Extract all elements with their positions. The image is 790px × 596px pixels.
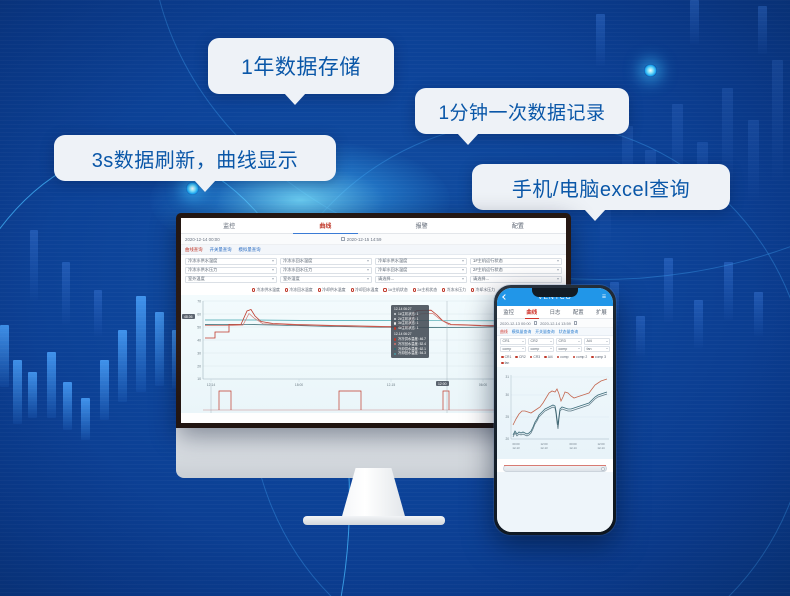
legend-item[interactable]: comp 3 [591,355,606,359]
phone-body-filler [497,472,613,532]
monitor-stand-base [303,516,445,525]
svg-text:12-14: 12-14 [597,446,605,450]
callout-tail [194,180,216,192]
legend-label: CR1 [505,355,512,359]
legend-label: 冷冻回水温度 [289,287,312,293]
legend-item[interactable]: comp [557,355,569,359]
selector-value: comp [531,347,540,351]
bg-bar [694,300,703,348]
bg-bar [13,360,22,424]
bg-bar [63,382,72,430]
chart-y-marker: 48.06 [182,314,195,319]
selector-value: CR2 [531,339,538,343]
legend-label: 冷却回水温度 [355,287,378,293]
date-end-field[interactable]: 2020-12-15 14:59 [341,237,382,242]
chevron-down-icon [606,341,608,342]
legend-marker-icon [557,356,560,359]
tooltip-dot-icon [394,353,396,355]
legend-item[interactable]: CR1 [501,355,511,359]
date-start-field[interactable]: 2020-12-14 00:00 [185,237,220,242]
calendar-icon [534,321,537,324]
selector-value: 请选择... [378,276,394,282]
chevron-down-icon [557,269,559,271]
tab-label: 日志 [550,308,561,316]
callout-three-second-refresh: 3s数据刷新，曲线显示 [54,135,336,181]
chevron-down-icon [272,269,274,271]
selector-value: 请选择... [473,276,489,282]
slider-knob[interactable] [601,467,605,471]
phone-subtab-bar: 曲线 模拟量查询 开关量查询 状态量查询 [497,328,613,336]
selector-value: fan [587,347,592,351]
phone-selector[interactable]: CR3 [556,338,582,345]
legend-marker-icon [351,288,354,291]
monitor-selector[interactable]: 1#主机运行状态 [470,258,562,266]
monitor-tab-alarm[interactable]: 报警 [374,218,470,233]
legend-item[interactable]: 冷却回水温度 [351,287,379,293]
monitor-subtab-analog-query[interactable]: 模拟量查询 [239,247,261,253]
monitor-selector[interactable]: 冷冻水回水温度 [280,258,372,266]
svg-text:70: 70 [197,300,201,304]
mobile-phone: VENTCO ≡ 监控 曲线 日志 配置 扩展 2020-12-13 00:00… [494,285,616,535]
selector-value: 室外湿度 [283,276,300,282]
chevron-down-icon [462,260,464,262]
monitor-selector[interactable]: 冷却水回水温度 [375,267,467,275]
tooltip-label: 冷却回水温度: 54.3 [398,351,426,356]
selector-value: 冷冻水回水压力 [283,267,312,273]
tooltip-dot-icon [394,327,396,329]
phone-selector[interactable]: CR1 [500,338,526,345]
phone-subtab-curve[interactable]: 曲线 [500,329,508,335]
phone-selector[interactable]: fan [584,346,610,353]
phone-selector[interactable]: Ai4 [584,338,610,345]
phone-tab-config[interactable]: 配置 [567,306,590,318]
legend-marker-icon [591,356,594,359]
legend-marker-icon [530,356,533,359]
callout-one-minute-record: 1分钟一次数据记录 [415,88,629,134]
bg-bar [0,325,9,387]
legend-item[interactable]: 1#主机状态 [383,287,407,293]
legend-label: 冷却供水温度 [322,287,345,293]
legend-marker-icon [544,356,547,359]
legend-marker-icon [252,288,255,291]
legend-marker-icon [471,288,474,291]
chevron-down-icon [550,348,552,349]
tooltip-row: 4#主机状态: 1 [394,326,426,331]
legend-item[interactable]: comp 2 [573,355,588,359]
legend-marker-icon [501,362,504,365]
chevron-left-icon[interactable] [502,294,508,300]
phone-date-start[interactable]: 2020-12-13 00:00 [500,321,531,326]
monitor-tab-config[interactable]: 配置 [470,218,566,233]
chart-tooltip: 12-14 06:27 1#主机状态: 1 2#主机状态: 1 3#主机状态: … [391,305,429,358]
legend-marker-icon [515,356,518,359]
phone-selector[interactable]: CR2 [528,338,554,345]
tab-label: 扩展 [596,308,607,316]
selector-value: 2#主机运行状态 [473,267,503,273]
monitor-selector[interactable]: 请选择... [470,276,562,284]
chevron-down-icon [578,348,580,349]
phone-tab-bar: 监控 曲线 日志 配置 扩展 [497,306,613,319]
selector-value: comp [503,347,512,351]
callout-tail [457,133,479,145]
legend-label: comp [560,355,568,359]
selector-value: CR1 [503,339,510,343]
phone-chart[interactable]: 31 30 25 20 00:0012-13 12:0012-13 00:001… [497,367,613,459]
phone-screen: VENTCO ≡ 监控 曲线 日志 配置 扩展 2020-12-13 00:00… [497,288,613,532]
legend-label: 1#主机状态 [388,287,408,293]
monitor-selector[interactable]: 冷冻水回水压力 [280,267,372,275]
tooltip-row: 冷却回水温度: 54.3 [394,351,426,356]
date-end-value: 2020-12-15 14:59 [347,237,382,242]
monitor-selector[interactable]: 冷冻水供水温度 [185,258,277,266]
phone-subtab-state-query[interactable]: 状态量查询 [559,329,578,335]
tab-label: 监控 [223,221,235,230]
legend-label: 冷冻水压力 [447,287,466,293]
legend-item[interactable]: CR3 [530,355,540,359]
phone-selector-grid: CR1 CR2 CR3 Ai4 comp comp comp fan [497,336,613,354]
legend-item[interactable]: CR2 [515,355,525,359]
legend-label: CR2 [519,355,526,359]
monitor-subtab-switch-query[interactable]: 开关量查询 [210,247,232,253]
selector-value: 1#主机运行状态 [473,258,503,264]
bg-glow-dot [644,64,657,77]
bg-bar [724,262,733,320]
phone-selector[interactable]: comp [500,346,526,353]
monitor-tab-curve[interactable]: 曲线 [277,218,373,233]
bg-bar [155,312,164,386]
bg-bar [62,262,70,324]
svg-text:40: 40 [197,339,201,343]
svg-text:20: 20 [197,365,201,369]
chevron-down-icon [272,260,274,262]
legend-item[interactable]: 冷却水压力 [471,287,495,293]
bg-bar [690,0,699,44]
selector-value: 冷却水回水温度 [378,267,407,273]
svg-text:12-14: 12-14 [569,446,577,450]
svg-text:10: 10 [197,377,201,381]
svg-text:12-13: 12-13 [512,446,520,450]
legend-marker-icon [501,356,504,359]
range-slider[interactable] [503,465,607,472]
selector-value: CR3 [559,339,566,343]
monitor-tab-bar: 监控 曲线 报警 配置 [181,218,566,234]
tooltip-dot-icon [394,348,396,350]
legend-label: CR3 [533,355,540,359]
phone-date-range-row: 2020-12-13 00:00 2020-12-14 13:59 [497,319,613,328]
chevron-down-icon [557,260,559,262]
more-menu-icon[interactable]: ≡ [602,294,607,301]
date-start-value: 2020-12-14 00:00 [185,237,220,242]
svg-text:31: 31 [505,375,509,379]
chevron-down-icon [462,269,464,271]
phone-selector[interactable]: comp [528,346,554,353]
bg-bar [100,360,109,420]
phone-subtab-switch-query[interactable]: 开关量查询 [535,329,554,335]
bg-bar [758,6,767,54]
tab-label: 配置 [512,221,524,230]
legend-item[interactable]: fan [501,361,509,365]
phone-notch [532,288,578,297]
svg-text:20: 20 [505,437,509,441]
selector-value: 冷冻水供水压力 [188,267,217,273]
monitor-tab-monitoring[interactable]: 监控 [181,218,277,233]
legend-marker-icon [442,288,445,291]
svg-text:60: 60 [197,313,201,317]
selector-value: 冷却水供水温度 [378,258,407,264]
selector-value: 冷冻水回水温度 [283,258,312,264]
legend-item[interactable]: 冷冻供水温度 [252,287,280,293]
phone-tab-curve[interactable]: 曲线 [520,306,543,318]
monitor-selector[interactable]: 室外温度 [185,276,277,284]
monitor-subtab-bar: 曲线查询 开关量查询 模拟量查询 [181,245,566,255]
tooltip-dot-icon [394,322,396,324]
bg-bar [30,230,38,300]
selector-value: Ai4 [587,339,592,343]
tooltip-label: 4#主机状态: 1 [398,326,419,331]
bg-bar [136,296,146,392]
phone-tab-monitoring[interactable]: 监控 [497,306,520,318]
tab-label: 配置 [573,308,584,316]
svg-text:12-15: 12-15 [387,383,396,387]
tab-label: 曲线 [319,221,331,230]
phone-tab-extend[interactable]: 扩展 [590,306,613,318]
tooltip-dot-icon [394,313,396,315]
monitor-subtab-curve-query[interactable]: 曲线查询 [185,247,203,253]
legend-label: 冷冻供水温度 [257,287,280,293]
chevron-down-icon [550,341,552,342]
callout-text: 3s数据刷新，曲线显示 [92,144,299,173]
bg-bar [94,290,102,336]
legend-item[interactable]: 冷冻回水温度 [285,287,313,293]
tooltip-dot-icon [394,338,396,340]
calendar-icon [574,321,577,324]
callout-text: 1年数据存储 [241,51,361,81]
monitor-date-range-row: 2020-12-14 00:00 2020-12-15 14:59 [181,234,566,245]
callout-tail [584,209,606,221]
phone-date-end[interactable]: 2020-12-14 13:59 [540,321,571,326]
chevron-down-icon [272,278,274,280]
monitor-selector[interactable]: 冷冻水供水压力 [185,267,277,275]
bg-bar [81,398,90,440]
selector-value: 冷冻水供水温度 [188,258,217,264]
bg-bar [47,352,56,418]
chart-x-marker: 12:00 [436,381,449,386]
bg-bar [748,120,759,200]
chevron-down-icon [367,260,369,262]
chevron-down-icon [557,278,559,280]
legend-marker-icon [413,288,416,291]
callout-one-year-storage: 1年数据存储 [208,38,394,94]
tab-label: 曲线 [526,308,537,316]
legend-item[interactable]: 冷冻水压力 [442,287,466,293]
monitor-selector[interactable]: 2#主机运行状态 [470,267,562,275]
svg-text:30: 30 [505,393,509,397]
svg-text:50: 50 [197,326,201,330]
selector-value: 室外温度 [188,276,205,282]
monitor-selector[interactable]: 冷却水供水温度 [375,258,467,266]
chevron-down-icon [578,341,580,342]
selector-value: comp [559,347,568,351]
phone-subtab-analog-query[interactable]: 模拟量查询 [512,329,531,335]
chevron-down-icon [522,348,524,349]
legend-marker-icon [383,288,386,291]
calendar-icon [341,237,345,241]
bg-bar [118,330,127,402]
poster-canvas: 1年数据存储 1分钟一次数据记录 3s数据刷新，曲线显示 手机/电脑excel查… [0,0,790,596]
monitor-selector-grid: 冷冻水供水温度 冷冻水回水温度 冷却水供水温度 1#主机运行状态 冷冻水供水压力… [181,255,566,286]
bg-bar [596,14,605,66]
legend-item[interactable]: Ai4 [544,355,553,359]
bg-bar [636,316,645,356]
chevron-down-icon [606,348,608,349]
legend-label: fan [505,361,510,365]
callout-text: 1分钟一次数据记录 [438,98,605,125]
legend-label: comp 2 [576,355,587,359]
monitor-selector[interactable]: 室外湿度 [280,276,372,284]
bg-bar [754,292,763,336]
phone-chart-legend: CR1 CR2 CR3 Ai4 comp comp 2 comp 3 fan [497,354,613,367]
legend-item[interactable]: 冷却供水温度 [318,287,346,293]
chevron-down-icon [367,269,369,271]
svg-text:25: 25 [505,415,509,419]
svg-text:18:00: 18:00 [295,383,303,387]
callout-tail [284,93,306,105]
svg-text:12-13: 12-13 [540,446,548,450]
legend-marker-icon [573,356,576,359]
svg-text:06:00: 06:00 [479,383,487,387]
callout-excel-query: 手机/电脑excel查询 [472,164,730,210]
legend-label: Ai4 [548,355,553,359]
tooltip-dot-icon [394,343,396,345]
phone-selector[interactable]: comp [556,346,582,353]
legend-marker-icon [285,288,288,291]
phone-chart-svg: 31 30 25 20 00:0012-13 12:0012-13 00:001… [497,367,613,459]
legend-label: 2#主机状态 [417,287,437,293]
legend-marker-icon [318,288,321,291]
monitor-selector[interactable]: 请选择... [375,276,467,284]
legend-item[interactable]: 2#主机状态 [413,287,437,293]
chevron-down-icon [462,278,464,280]
bg-bar [664,258,673,322]
legend-label: 冷却水压力 [476,287,495,293]
svg-text:30: 30 [197,352,201,356]
legend-label: comp 3 [595,355,606,359]
tab-label: 报警 [416,221,428,230]
tab-label: 监控 [503,308,514,316]
bg-bar [28,372,37,418]
phone-tab-log[interactable]: 日志 [543,306,566,318]
tooltip-dot-icon [394,318,396,320]
callout-text: 手机/电脑excel查询 [512,173,690,202]
chevron-down-icon [522,341,524,342]
chevron-down-icon [367,278,369,280]
bg-bar [772,60,783,180]
